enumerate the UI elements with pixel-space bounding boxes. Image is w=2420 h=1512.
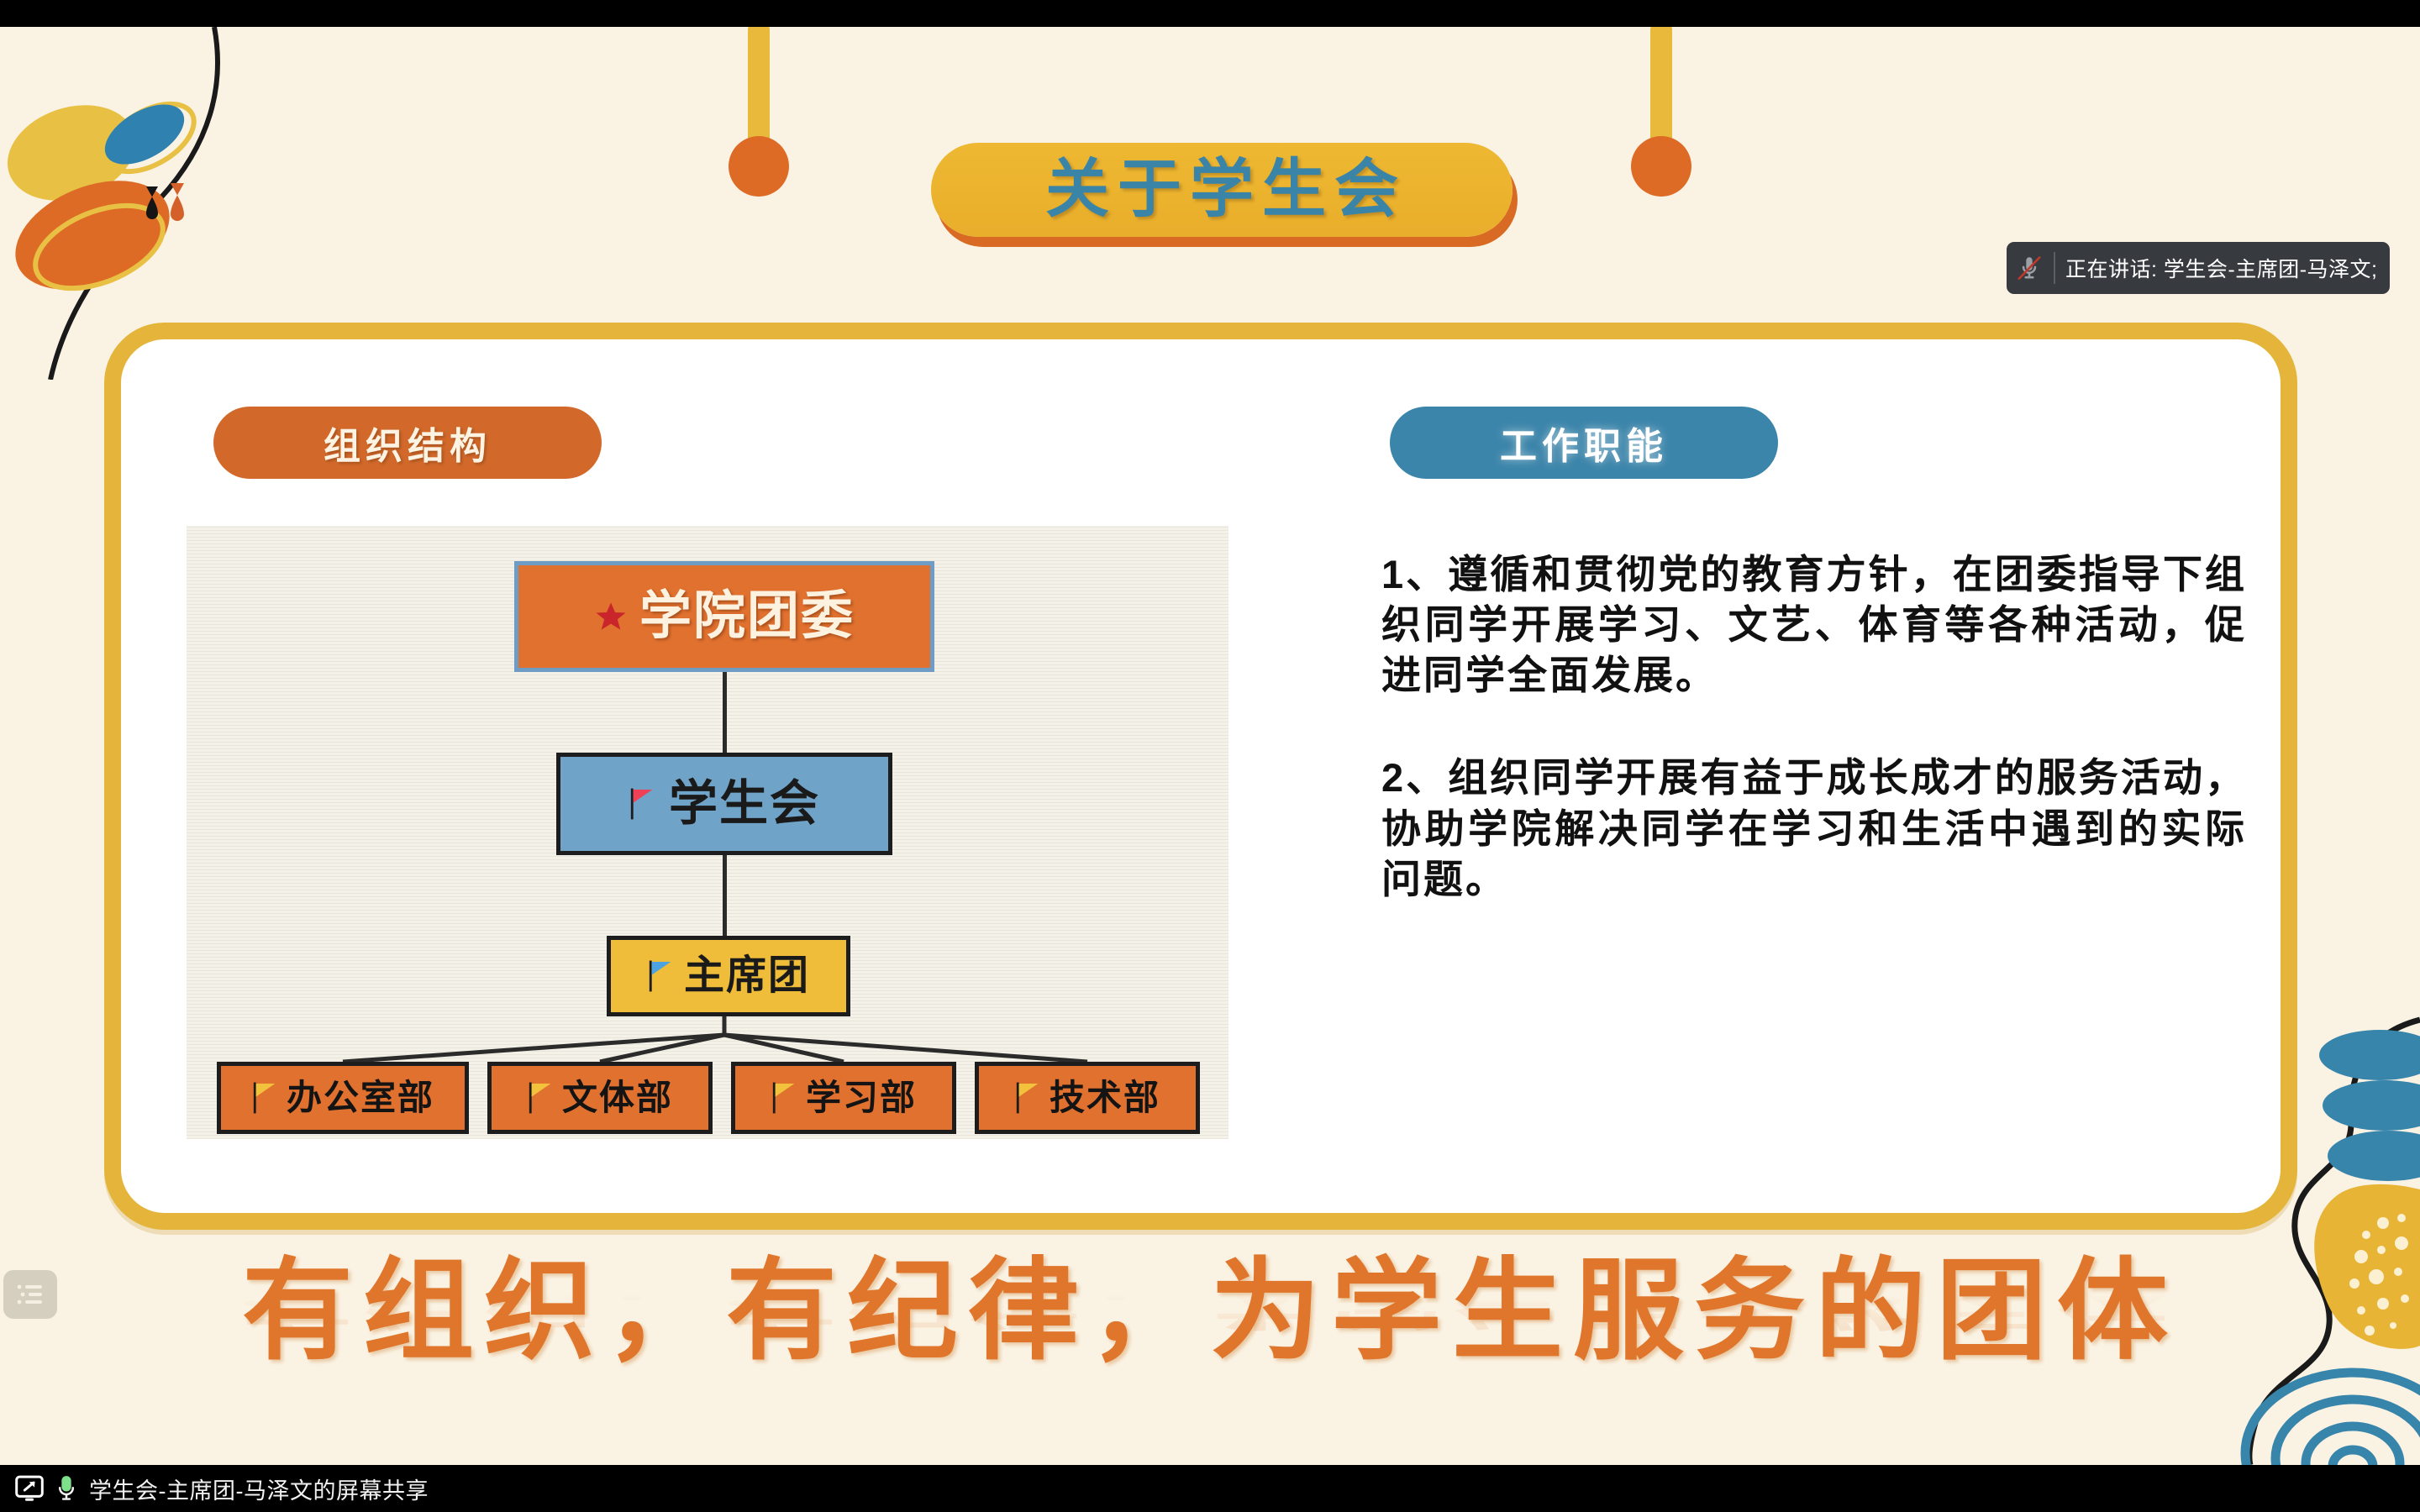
org-chart-panel: 学院团委 学生会 主席团 [187, 526, 1228, 1139]
slide-title-text: 关于学生会 [1037, 158, 1407, 222]
function-text-block: 1、遵循和贯彻党的教育方针，在团委指导下组织同学开展学习、文艺、体育等各种活动，… [1381, 549, 2247, 957]
speaking-text: 正在讲话: 学生会-主席团-马泽文; [2065, 253, 2378, 283]
slide-slogan: 有组织，有纪律，为学生服务的团体 [0, 1221, 2420, 1382]
section-header-function: 工作职能 [1390, 407, 1778, 479]
org-node-department-study[interactable]: 学习部 [731, 1062, 956, 1134]
screen-share-icon[interactable] [15, 1475, 44, 1502]
org-node-college-youth-league[interactable]: 学院团委 [514, 561, 934, 672]
slide-title-banner: 关于学生会 [931, 143, 1512, 237]
flag-icon-yellow [771, 1079, 799, 1116]
mic-active-icon[interactable] [55, 1474, 77, 1503]
star-icon [594, 600, 628, 633]
speaking-indicator[interactable]: 正在讲话: 学生会-主席团-马泽文; [2007, 242, 2390, 294]
org-node-label: 办公室部 [287, 1080, 434, 1116]
decoration-pin-right [1650, 27, 1672, 150]
list-icon [16, 1283, 45, 1306]
speaking-divider [2054, 252, 2055, 284]
mic-muted-icon [2015, 254, 2044, 282]
org-node-label: 学习部 [806, 1080, 917, 1116]
org-node-student-union[interactable]: 学生会 [556, 753, 892, 855]
section-header-structure-label: 组织结构 [324, 416, 492, 470]
org-node-label: 主席团 [684, 956, 810, 996]
top-black-strip [0, 0, 2420, 27]
org-node-label: 学生会 [669, 780, 820, 828]
function-paragraph-2: 2、组织同学开展有益于成长成才的服务活动，协助学院解决同学在学习和生活中遇到的实… [1381, 753, 2247, 904]
function-paragraph-1: 1、遵循和贯彻党的教育方针，在团委指导下组织同学开展学习、文艺、体育等各种活动，… [1381, 549, 2247, 701]
org-node-label: 学院团委 [639, 591, 855, 643]
flag-icon-yellow [251, 1079, 280, 1116]
list-toggle-button[interactable] [3, 1270, 57, 1319]
decoration-pin-left [748, 27, 770, 150]
org-node-department-culture-sports[interactable]: 文体部 [487, 1062, 713, 1134]
flag-icon-red [629, 785, 657, 822]
section-header-structure: 组织结构 [213, 407, 602, 479]
org-node-department-office[interactable]: 办公室部 [217, 1062, 469, 1134]
section-header-function-label: 工作职能 [1500, 416, 1668, 470]
org-node-presidium[interactable]: 主席团 [607, 936, 850, 1016]
content-card: 组织结构 工作职能 [104, 323, 2297, 1230]
screen-share-view: 关于学生会 组织结构 工作职能 [0, 0, 2420, 1512]
flag-icon-blue [647, 958, 676, 995]
org-node-label: 文体部 [562, 1080, 673, 1116]
taskbar: 学生会-主席团-马泽文的屏幕共享 [0, 1465, 2420, 1512]
taskbar-share-text: 学生会-主席团-马泽文的屏幕共享 [89, 1473, 429, 1505]
org-node-department-technology[interactable]: 技术部 [975, 1062, 1200, 1134]
flag-icon-yellow [1014, 1079, 1043, 1116]
org-node-label: 技术部 [1050, 1080, 1160, 1116]
flag-icon-yellow [527, 1079, 555, 1116]
